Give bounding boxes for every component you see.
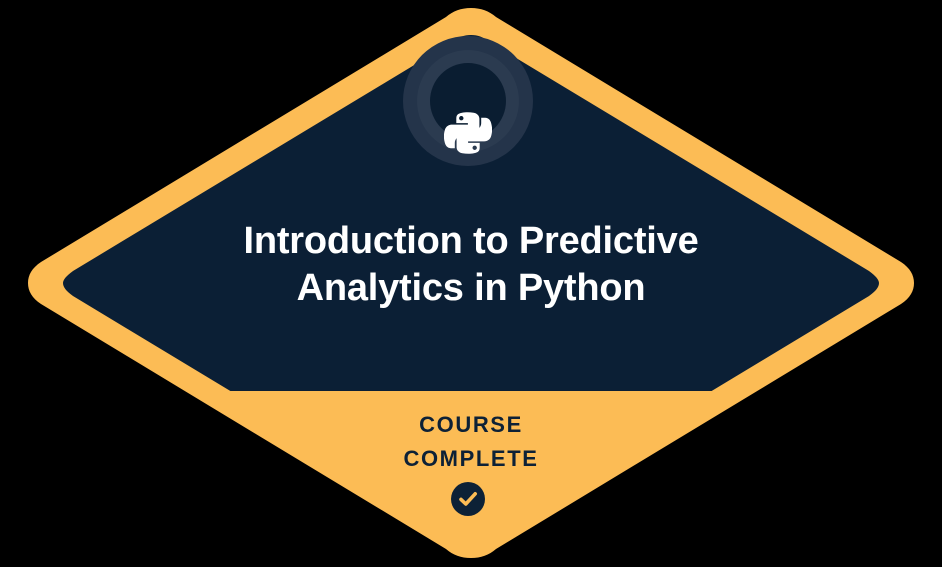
course-completion-badge: Introduction to Predictive Analytics in …: [0, 0, 942, 567]
badge-diamond-shape: [0, 0, 942, 567]
diamond-navy-panel: [0, 0, 942, 391]
